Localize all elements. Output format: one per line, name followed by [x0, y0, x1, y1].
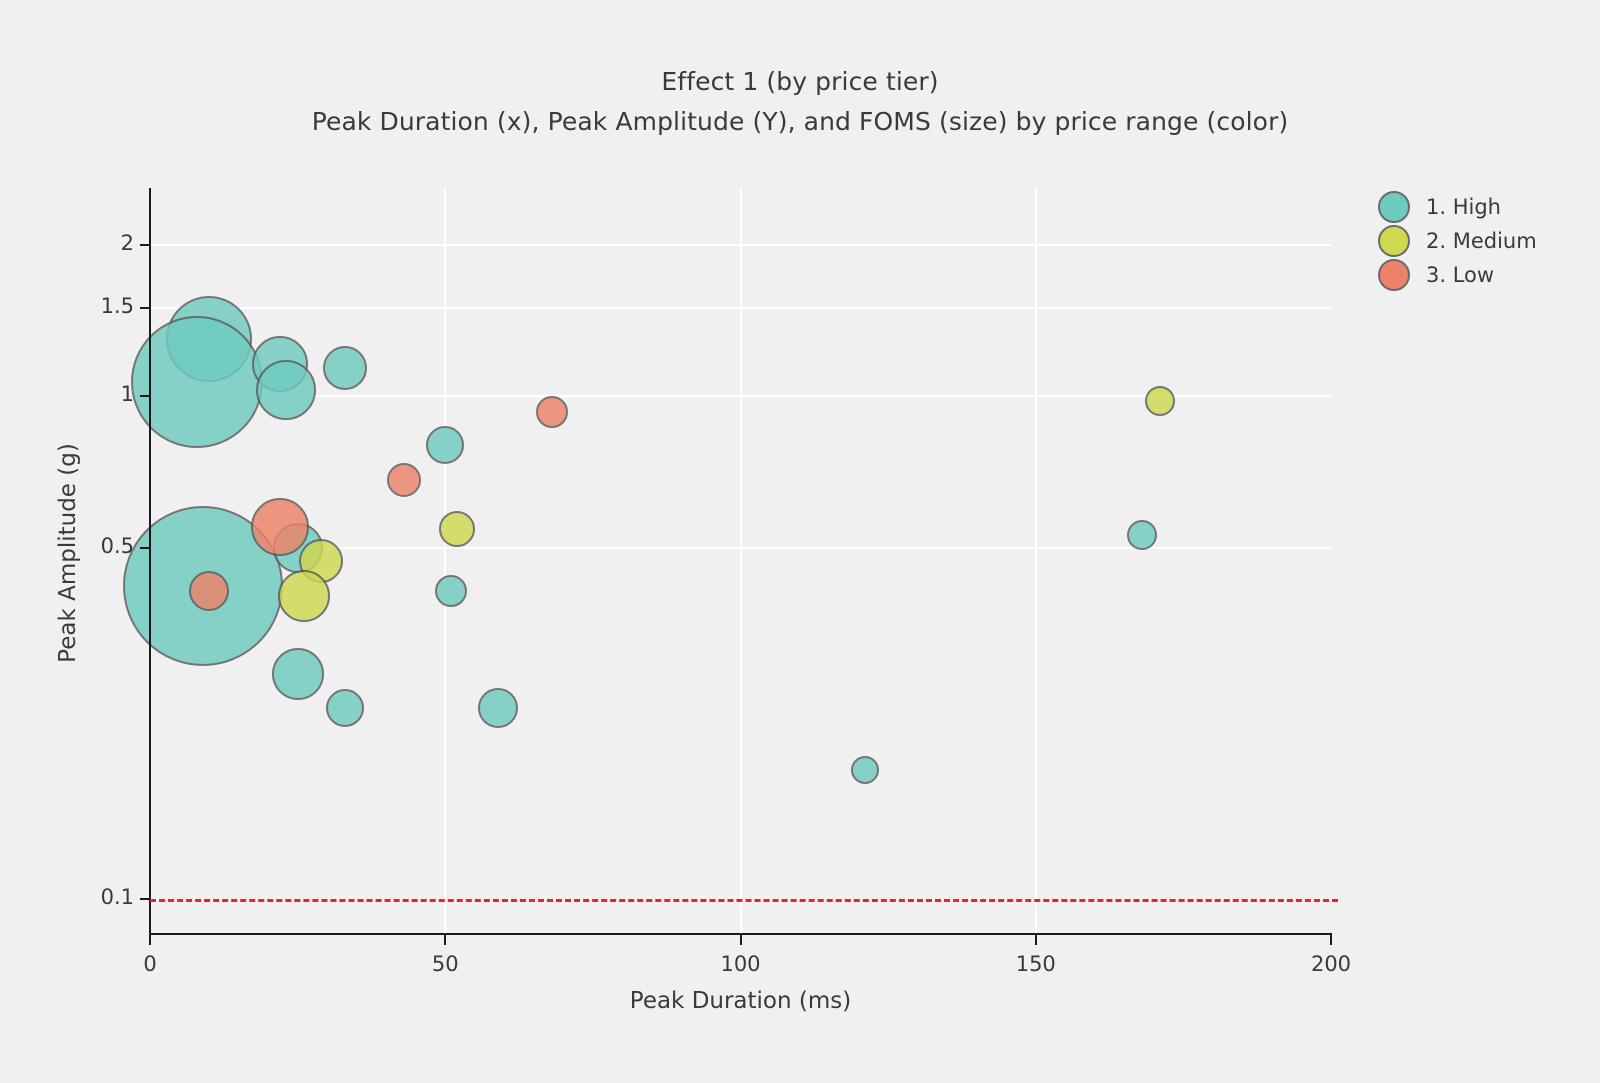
legend-swatch-circle-icon — [1378, 259, 1410, 291]
bubble-marker[interactable] — [272, 648, 324, 700]
legend-item-label: 1. High — [1426, 195, 1501, 219]
y-tick-label: 2 — [121, 231, 134, 255]
bubble-marker[interactable] — [323, 346, 367, 390]
bubble-marker[interactable] — [435, 575, 467, 607]
bubble-marker[interactable] — [278, 570, 330, 622]
legend-item-label: 3. Low — [1426, 263, 1494, 287]
y-tick-mark — [140, 898, 149, 900]
y-tick-mark — [140, 307, 149, 309]
gridline-vertical — [444, 188, 446, 934]
legend-item[interactable]: 2. Medium — [1378, 224, 1537, 258]
bubble-marker[interactable] — [189, 571, 229, 611]
chart-figure: Effect 1 (by price tier) Peak Duration (… — [0, 0, 1600, 1083]
bubble-marker[interactable] — [426, 426, 464, 464]
x-tick-label: 50 — [405, 952, 485, 976]
x-tick-label: 150 — [996, 952, 1076, 976]
y-tick-label: 0.5 — [101, 534, 134, 558]
x-tick-label: 200 — [1291, 952, 1371, 976]
legend-swatch-circle-icon — [1378, 225, 1410, 257]
legend: 1. High2. Medium3. Low — [1378, 190, 1537, 292]
chart-title: Effect 1 (by price tier) — [0, 62, 1600, 102]
y-tick-mark — [140, 395, 149, 397]
x-tick-mark — [740, 935, 742, 945]
bubble-marker[interactable] — [536, 396, 568, 428]
x-tick-mark — [1035, 935, 1037, 945]
x-tick-mark — [444, 935, 446, 945]
bubble-marker[interactable] — [851, 756, 879, 784]
y-axis-title: Peak Amplitude (g) — [55, 180, 81, 926]
legend-item[interactable]: 3. Low — [1378, 258, 1537, 292]
legend-item[interactable]: 1. High — [1378, 190, 1537, 224]
y-tick-mark — [140, 547, 149, 549]
bubble-marker[interactable] — [1127, 520, 1157, 550]
y-tick-label: 1 — [121, 382, 134, 406]
x-axis-title: Peak Duration (ms) — [150, 988, 1331, 1014]
bubble-marker[interactable] — [131, 316, 263, 448]
x-tick-label: 0 — [110, 952, 190, 976]
chart-subtitle: Peak Duration (x), Peak Amplitude (Y), a… — [0, 102, 1600, 142]
x-tick-mark — [1330, 935, 1332, 945]
gridline-vertical — [740, 188, 742, 934]
y-axis-spine — [149, 188, 151, 935]
legend-item-label: 2. Medium — [1426, 229, 1537, 253]
y-tick-label: 1.5 — [101, 294, 134, 318]
bubble-marker[interactable] — [1145, 386, 1175, 416]
y-tick-mark — [140, 244, 149, 246]
plot-area — [150, 188, 1331, 934]
bubble-marker[interactable] — [251, 498, 309, 556]
bubble-marker[interactable] — [256, 360, 316, 420]
threshold-line — [150, 899, 1338, 902]
bubble-marker[interactable] — [439, 511, 475, 547]
x-tick-mark — [149, 935, 151, 945]
y-tick-label: 0.1 — [101, 885, 134, 909]
legend-swatch-circle-icon — [1378, 191, 1410, 223]
bubble-marker[interactable] — [478, 688, 518, 728]
chart-title-block: Effect 1 (by price tier) Peak Duration (… — [0, 62, 1600, 142]
bubble-marker[interactable] — [387, 463, 421, 497]
bubble-marker[interactable] — [326, 689, 364, 727]
x-tick-label: 100 — [701, 952, 781, 976]
gridline-vertical — [1035, 188, 1037, 934]
